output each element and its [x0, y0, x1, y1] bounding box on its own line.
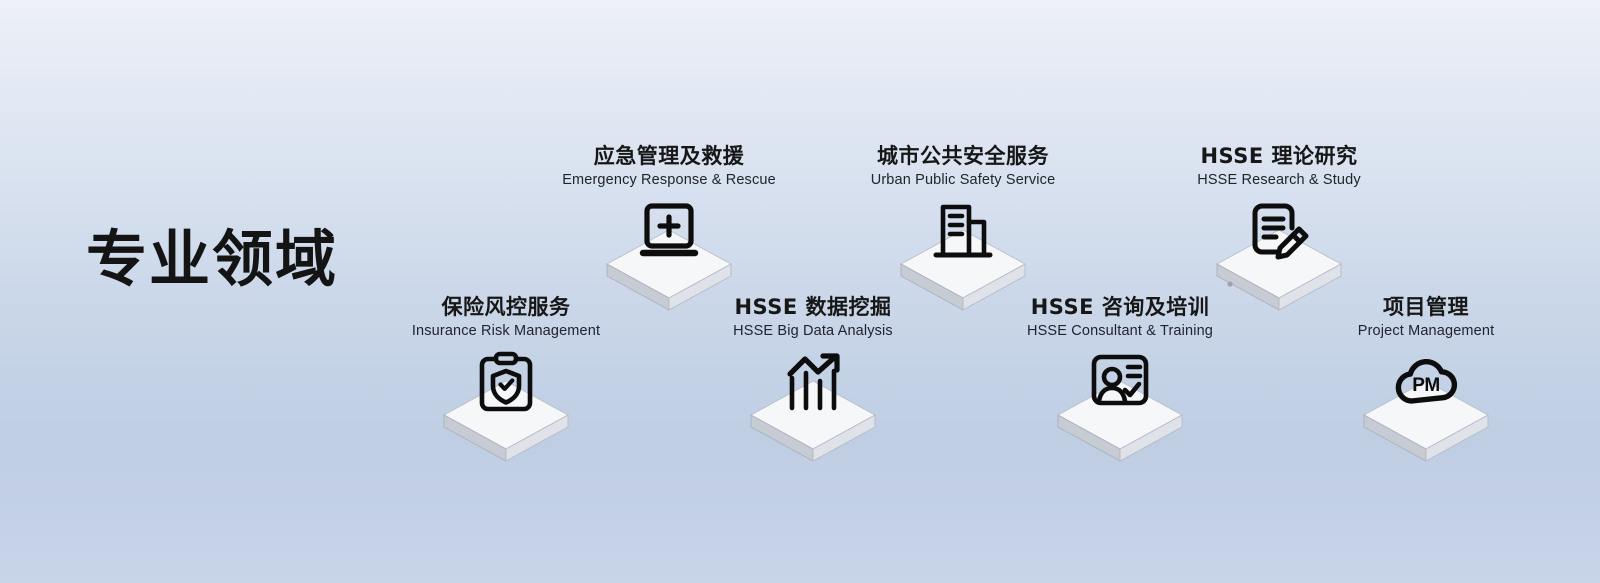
domain-label-en: HSSE Consultant & Training [990, 323, 1250, 340]
domain-icon-group[interactable]: PM [1296, 349, 1556, 467]
professional-domains-banner: 专业领域 保险风控服务 Insurance Risk Management 应急… [0, 0, 1600, 583]
domain-label-en: HSSE Research & Study [1149, 172, 1409, 189]
cloud-pm-icon[interactable]: PM [1394, 351, 1458, 415]
domain-label-en: Insurance Risk Management [376, 323, 636, 340]
domain-icon-group[interactable] [376, 349, 636, 467]
domain-icon-group[interactable] [990, 349, 1250, 467]
document-pencil-icon[interactable] [1247, 200, 1311, 264]
clipboard-shield-check-icon[interactable] [474, 351, 538, 415]
domain-item-hsse-consultant-training[interactable]: HSSE 咨询及培训 HSSE Consultant & Training [990, 296, 1250, 467]
domain-item-insurance-risk-management[interactable]: 保险风控服务 Insurance Risk Management [376, 296, 636, 467]
domain-label-cn: 应急管理及救援 [539, 145, 799, 168]
domain-icon-group[interactable] [683, 349, 943, 467]
domain-label-en: Urban Public Safety Service [833, 172, 1093, 189]
domain-item-urban-public-safety-service[interactable]: 城市公共安全服务 Urban Public Safety Service [833, 145, 1093, 316]
domain-label-cn: HSSE 理论研究 [1149, 145, 1409, 168]
bar-chart-trend-up-icon[interactable] [781, 351, 845, 415]
domain-item-hsse-research-study[interactable]: HSSE 理论研究 HSSE Research & Study [1149, 145, 1409, 316]
person-card-check-icon[interactable] [1088, 351, 1152, 415]
domain-label-en: Emergency Response & Rescue [539, 172, 799, 189]
city-buildings-icon[interactable] [931, 200, 995, 264]
domain-item-emergency-response-rescue[interactable]: 应急管理及救援 Emergency Response & Rescue [539, 145, 799, 316]
domain-label-en: HSSE Big Data Analysis [683, 323, 943, 340]
domain-label-cn: 城市公共安全服务 [833, 145, 1093, 168]
page-title: 专业领域 [86, 228, 338, 292]
domain-label-en: Project Management [1296, 323, 1556, 340]
domain-item-project-management[interactable]: 项目管理 Project Management PM [1296, 296, 1556, 467]
domain-label-cn: 项目管理 [1296, 296, 1556, 319]
first-aid-plus-icon[interactable] [637, 200, 701, 264]
domain-item-hsse-big-data-analysis[interactable]: HSSE 数据挖掘 HSSE Big Data Analysis [683, 296, 943, 467]
